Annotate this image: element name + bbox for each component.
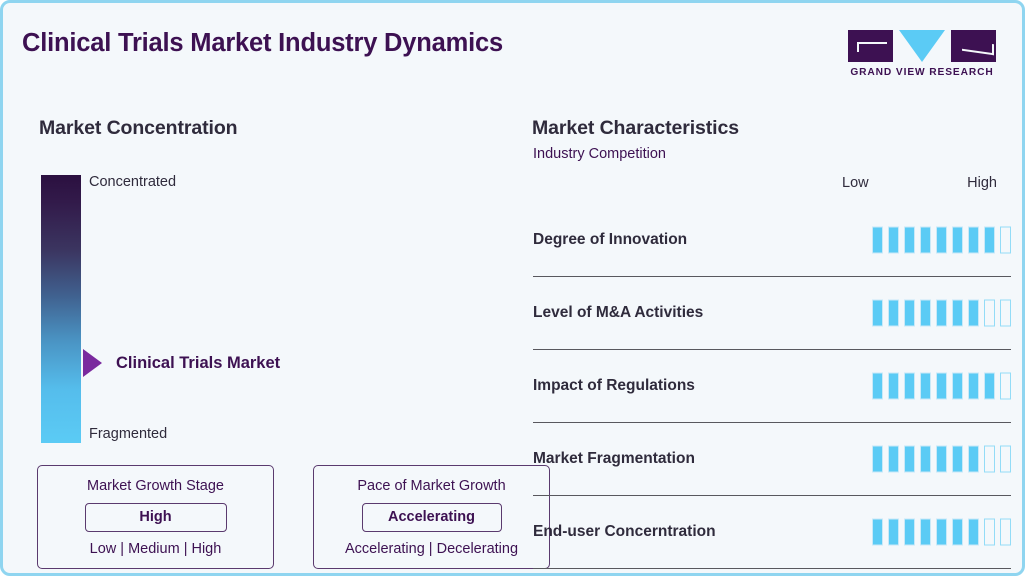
meter-tick-filled	[888, 227, 899, 254]
characteristic-row: Market Fragmentation	[533, 423, 1011, 496]
intensity-scale-header: Low High	[842, 175, 997, 191]
marker-arrow-icon	[83, 349, 102, 377]
meter-tick-filled	[984, 227, 995, 254]
characteristic-label: Level of M&A Activities	[533, 304, 703, 322]
meter-tick-filled	[872, 300, 883, 327]
meter-tick-filled	[904, 446, 915, 473]
meter-tick-filled	[952, 519, 963, 546]
meter-tick-filled	[952, 373, 963, 400]
characteristic-row: Degree of Innovation	[533, 204, 1011, 277]
logo-right-block-icon	[951, 30, 996, 62]
meter-tick-empty	[1000, 227, 1011, 254]
characteristic-intensity-meter	[872, 300, 1011, 327]
meter-tick-empty	[1000, 300, 1011, 327]
meter-tick-filled	[984, 373, 995, 400]
pace-of-market-growth-title: Pace of Market Growth	[326, 478, 537, 494]
concentration-gradient-scale	[41, 175, 81, 443]
brand-logo: GRAND VIEW RESEARCH	[848, 30, 996, 78]
logo-marks	[848, 30, 996, 62]
meter-tick-filled	[968, 446, 979, 473]
meter-tick-filled	[952, 300, 963, 327]
meter-tick-filled	[920, 227, 931, 254]
scale-label-concentrated: Concentrated	[89, 174, 176, 190]
market-growth-stage-value: High	[85, 503, 227, 532]
market-characteristics-subtitle: Industry Competition	[533, 146, 666, 162]
meter-tick-filled	[968, 227, 979, 254]
pace-of-market-growth-value: Accelerating	[362, 503, 502, 532]
meter-tick-filled	[936, 227, 947, 254]
scale-label-fragmented: Fragmented	[89, 426, 167, 442]
meter-tick-filled	[872, 227, 883, 254]
characteristic-intensity-meter	[872, 227, 1011, 254]
characteristic-row: End-user Concerntration	[533, 496, 1011, 569]
meter-tick-filled	[968, 519, 979, 546]
characteristic-intensity-meter	[872, 519, 1011, 546]
pace-of-market-growth-card: Pace of Market Growth Accelerating Accel…	[313, 465, 550, 569]
characteristic-label: Impact of Regulations	[533, 377, 695, 395]
meter-tick-filled	[904, 300, 915, 327]
meter-tick-empty	[984, 446, 995, 473]
meter-tick-filled	[936, 373, 947, 400]
meter-tick-filled	[872, 519, 883, 546]
market-concentration-panel: Market Concentration Concentrated Fragme…	[3, 91, 518, 576]
logo-left-block-icon	[848, 30, 893, 62]
meter-tick-filled	[968, 373, 979, 400]
logo-triangle-icon	[899, 30, 945, 62]
market-characteristics-panel: Market Characteristics Industry Competit…	[518, 91, 1025, 576]
meter-tick-filled	[904, 227, 915, 254]
meter-tick-empty	[984, 519, 995, 546]
characteristic-label: End-user Concerntration	[533, 523, 716, 541]
meter-tick-filled	[888, 519, 899, 546]
characteristic-label: Degree of Innovation	[533, 231, 687, 249]
pace-of-market-growth-options: Accelerating | Decelerating	[326, 541, 537, 557]
meter-tick-filled	[888, 300, 899, 327]
scale-header-high: High	[967, 175, 997, 191]
infographic-page: Clinical Trials Market Industry Dynamics…	[0, 0, 1025, 576]
scale-header-low: Low	[842, 175, 869, 191]
meter-tick-filled	[968, 300, 979, 327]
meter-tick-filled	[872, 373, 883, 400]
header: Clinical Trials Market Industry Dynamics…	[3, 3, 1022, 91]
meter-tick-empty	[1000, 373, 1011, 400]
meter-tick-empty	[1000, 519, 1011, 546]
meter-tick-filled	[904, 519, 915, 546]
meter-tick-filled	[920, 300, 931, 327]
meter-tick-filled	[872, 446, 883, 473]
logo-wordmark: GRAND VIEW RESEARCH	[848, 67, 996, 78]
characteristic-row: Level of M&A Activities	[533, 277, 1011, 350]
characteristic-intensity-meter	[872, 373, 1011, 400]
meter-tick-filled	[920, 519, 931, 546]
market-growth-stage-card: Market Growth Stage High Low | Medium | …	[37, 465, 274, 569]
market-growth-stage-title: Market Growth Stage	[50, 478, 261, 494]
meter-tick-filled	[936, 446, 947, 473]
meter-tick-filled	[936, 300, 947, 327]
meter-tick-filled	[952, 446, 963, 473]
meter-tick-empty	[984, 300, 995, 327]
meter-tick-filled	[936, 519, 947, 546]
meter-tick-filled	[904, 373, 915, 400]
meter-tick-filled	[888, 446, 899, 473]
meter-tick-filled	[920, 446, 931, 473]
page-title: Clinical Trials Market Industry Dynamics	[22, 29, 503, 58]
characteristics-rows: Degree of InnovationLevel of M&A Activit…	[533, 204, 1011, 569]
characteristic-intensity-meter	[872, 446, 1011, 473]
characteristic-label: Market Fragmentation	[533, 450, 695, 468]
meter-tick-filled	[888, 373, 899, 400]
marker-label: Clinical Trials Market	[116, 354, 280, 373]
market-concentration-title: Market Concentration	[39, 117, 237, 140]
growth-cards: Market Growth Stage High Low | Medium | …	[37, 465, 550, 569]
market-characteristics-title: Market Characteristics	[532, 117, 739, 140]
meter-tick-filled	[952, 227, 963, 254]
meter-tick-empty	[1000, 446, 1011, 473]
meter-tick-filled	[920, 373, 931, 400]
market-growth-stage-options: Low | Medium | High	[50, 541, 261, 557]
characteristic-row: Impact of Regulations	[533, 350, 1011, 423]
concentration-marker: Clinical Trials Market	[83, 349, 280, 377]
